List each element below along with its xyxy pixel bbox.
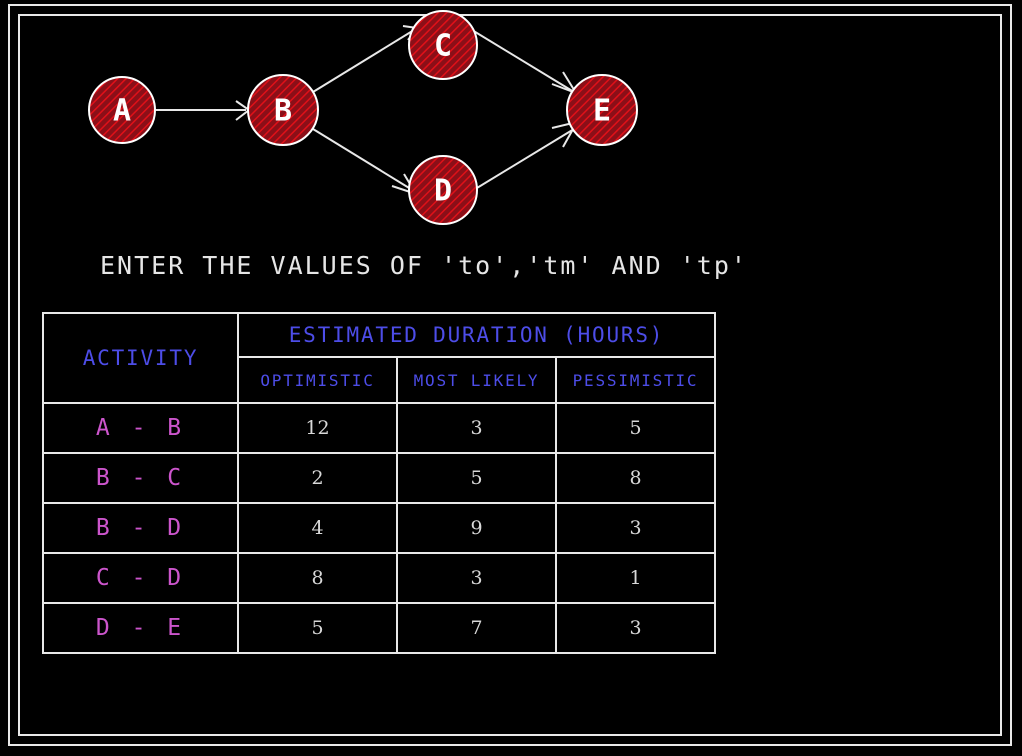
network-node-a[interactable]: A xyxy=(89,77,155,143)
node-a-label: A xyxy=(113,94,131,129)
node-c-label: C xyxy=(434,29,452,64)
network-svg: A B C D E xyxy=(0,0,1022,245)
cell-most-likely[interactable]: 3 xyxy=(397,553,556,603)
edge-b-c xyxy=(313,30,414,92)
cell-most-likely[interactable]: 7 xyxy=(397,603,556,653)
node-b-label: B xyxy=(274,94,292,129)
table-head: ACTIVITY ESTIMATED DURATION (HOURS) OPTI… xyxy=(43,313,715,403)
cell-most-likely[interactable]: 3 xyxy=(397,403,556,453)
table-row: A - B 12 3 5 xyxy=(43,403,715,453)
network-node-c[interactable]: C xyxy=(409,11,477,79)
prompt-message: ENTER THE VALUES OF 'to','tm' AND 'tp' xyxy=(0,251,1022,280)
pert-network-diagram: A B C D E xyxy=(0,0,1022,245)
header-estimated-duration: ESTIMATED DURATION (HOURS) xyxy=(238,313,715,357)
table-row: C - D 8 3 1 xyxy=(43,553,715,603)
cell-optimistic[interactable]: 5 xyxy=(238,603,397,653)
cell-optimistic[interactable]: 12 xyxy=(238,403,397,453)
table-row: B - C 2 5 8 xyxy=(43,453,715,503)
table-body: A - B 12 3 5 B - C 2 5 8 B - D 4 9 3 C -… xyxy=(43,403,715,653)
header-optimistic: OPTIMISTIC xyxy=(238,357,397,403)
cell-optimistic[interactable]: 8 xyxy=(238,553,397,603)
cell-pessimistic[interactable]: 5 xyxy=(556,403,715,453)
edge-c-e xyxy=(472,30,574,92)
cell-activity: C - D xyxy=(43,553,238,603)
header-pessimistic: PESSIMISTIC xyxy=(556,357,715,403)
cell-activity: A - B xyxy=(43,403,238,453)
cell-optimistic[interactable]: 2 xyxy=(238,453,397,503)
node-e-label: E xyxy=(593,94,611,129)
network-node-e[interactable]: E xyxy=(567,75,637,145)
table-header-row-1: ACTIVITY ESTIMATED DURATION (HOURS) xyxy=(43,313,715,357)
cell-activity: D - E xyxy=(43,603,238,653)
header-most-likely: MOST LIKELY xyxy=(397,357,556,403)
cell-optimistic[interactable]: 4 xyxy=(238,503,397,553)
duration-estimates-table: ACTIVITY ESTIMATED DURATION (HOURS) OPTI… xyxy=(42,312,716,654)
cell-most-likely[interactable]: 5 xyxy=(397,453,556,503)
cell-pessimistic[interactable]: 3 xyxy=(556,503,715,553)
cell-activity: B - D xyxy=(43,503,238,553)
table-row: D - E 5 7 3 xyxy=(43,603,715,653)
cell-pessimistic[interactable]: 3 xyxy=(556,603,715,653)
edge-group xyxy=(156,26,577,194)
network-node-b[interactable]: B xyxy=(248,75,318,145)
edge-d-e xyxy=(472,129,574,191)
node-d-label: D xyxy=(434,174,452,209)
cell-activity: B - C xyxy=(43,453,238,503)
cell-most-likely[interactable]: 9 xyxy=(397,503,556,553)
cell-pessimistic[interactable]: 1 xyxy=(556,553,715,603)
cell-pessimistic[interactable]: 8 xyxy=(556,453,715,503)
application-screen: A B C D E ENTER THE VALUES xyxy=(0,0,1022,756)
edge-b-d xyxy=(313,129,414,191)
header-activity: ACTIVITY xyxy=(43,313,238,403)
network-node-d[interactable]: D xyxy=(409,156,477,224)
table-row: B - D 4 9 3 xyxy=(43,503,715,553)
